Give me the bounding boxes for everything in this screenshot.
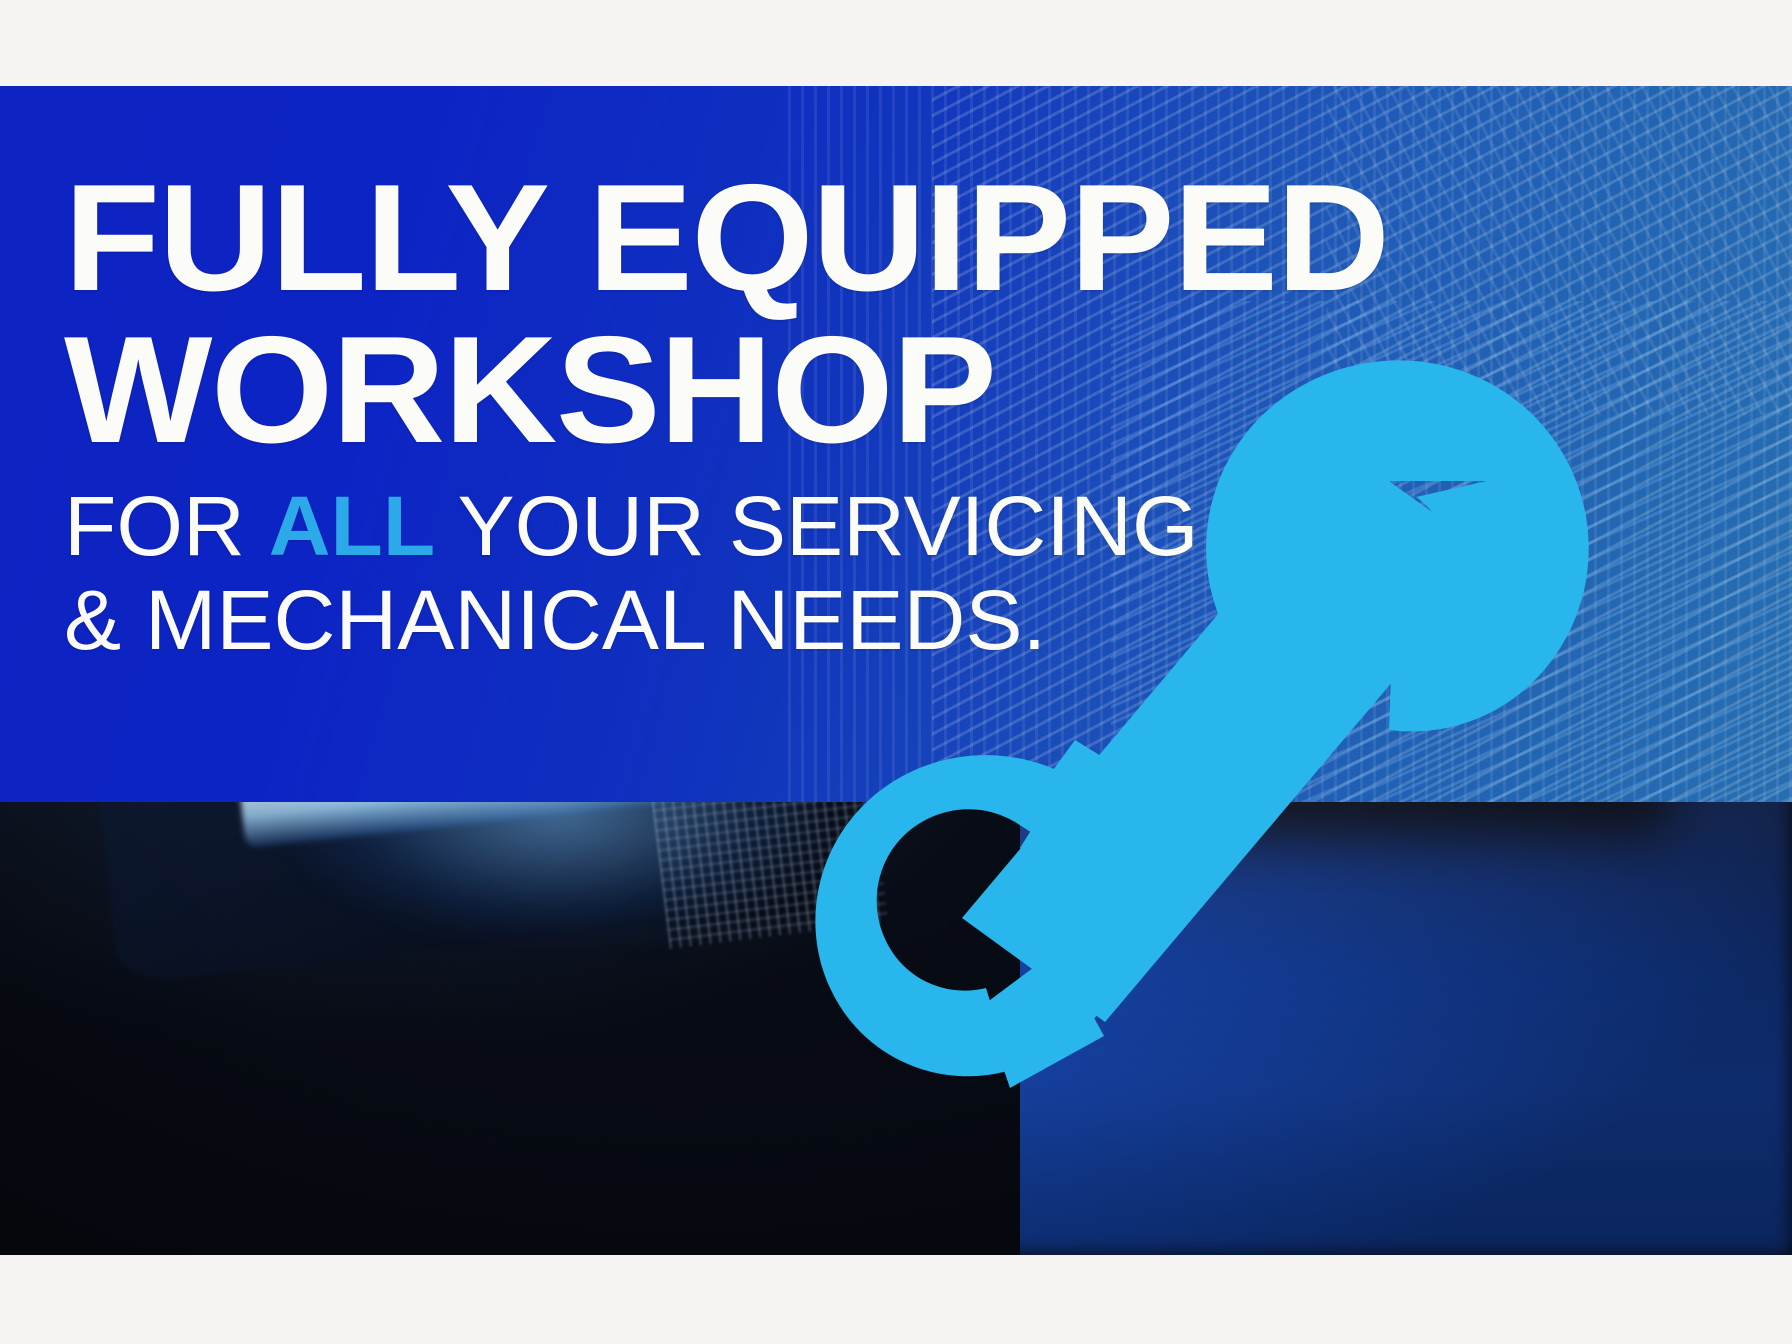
blue-banner-panel: FULLY EQUIPPED WORKSHOP FOR ALL YOUR SER… — [0, 86, 1792, 802]
banner-graphic: FULLY EQUIPPED WORKSHOP FOR ALL YOUR SER… — [0, 0, 1792, 1344]
subhead-accent-all: ALL — [269, 479, 436, 573]
headline-line-2: WORKSHOP — [64, 314, 996, 466]
subhead-line-1: FOR ALL YOUR SERVICING — [64, 484, 1199, 568]
subhead-line-2: & MECHANICAL NEEDS. — [64, 578, 1046, 662]
banner-copy-block: FULLY EQUIPPED WORKSHOP FOR ALL YOUR SER… — [60, 86, 1210, 802]
subhead-prefix: FOR — [64, 479, 269, 573]
letterbox-top — [0, 0, 1792, 86]
subhead-suffix: YOUR SERVICING — [435, 479, 1198, 573]
letterbox-bottom — [0, 1255, 1792, 1344]
headline-line-1: FULLY EQUIPPED — [64, 162, 1389, 314]
